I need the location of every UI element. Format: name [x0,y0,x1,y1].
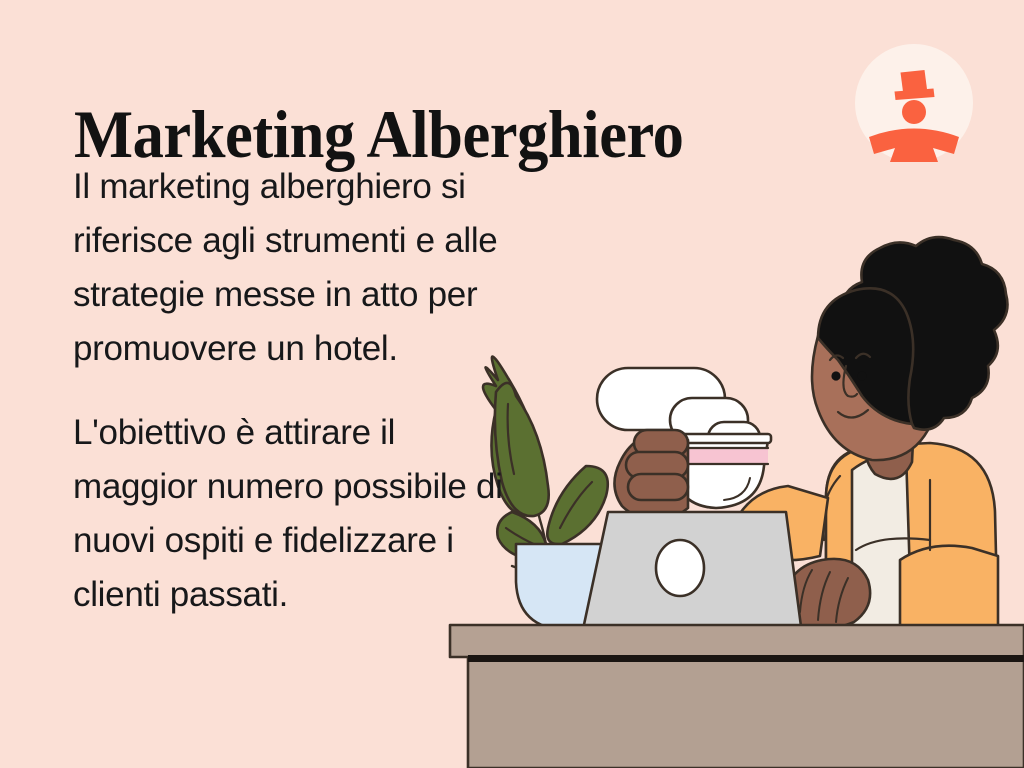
paragraph-definition: Il marketing alberghiero si riferisce ag… [73,160,503,376]
paragraph-objective: L'obiettivo è attirare il maggior numero… [73,406,503,622]
slide-root: Marketing Alberghiero Il marketing alber… [0,0,1024,768]
text-layer: Marketing Alberghiero Il marketing alber… [0,0,1024,768]
body-copy: Il marketing alberghiero si riferisce ag… [73,160,503,622]
page-title: Marketing Alberghiero [74,98,684,170]
